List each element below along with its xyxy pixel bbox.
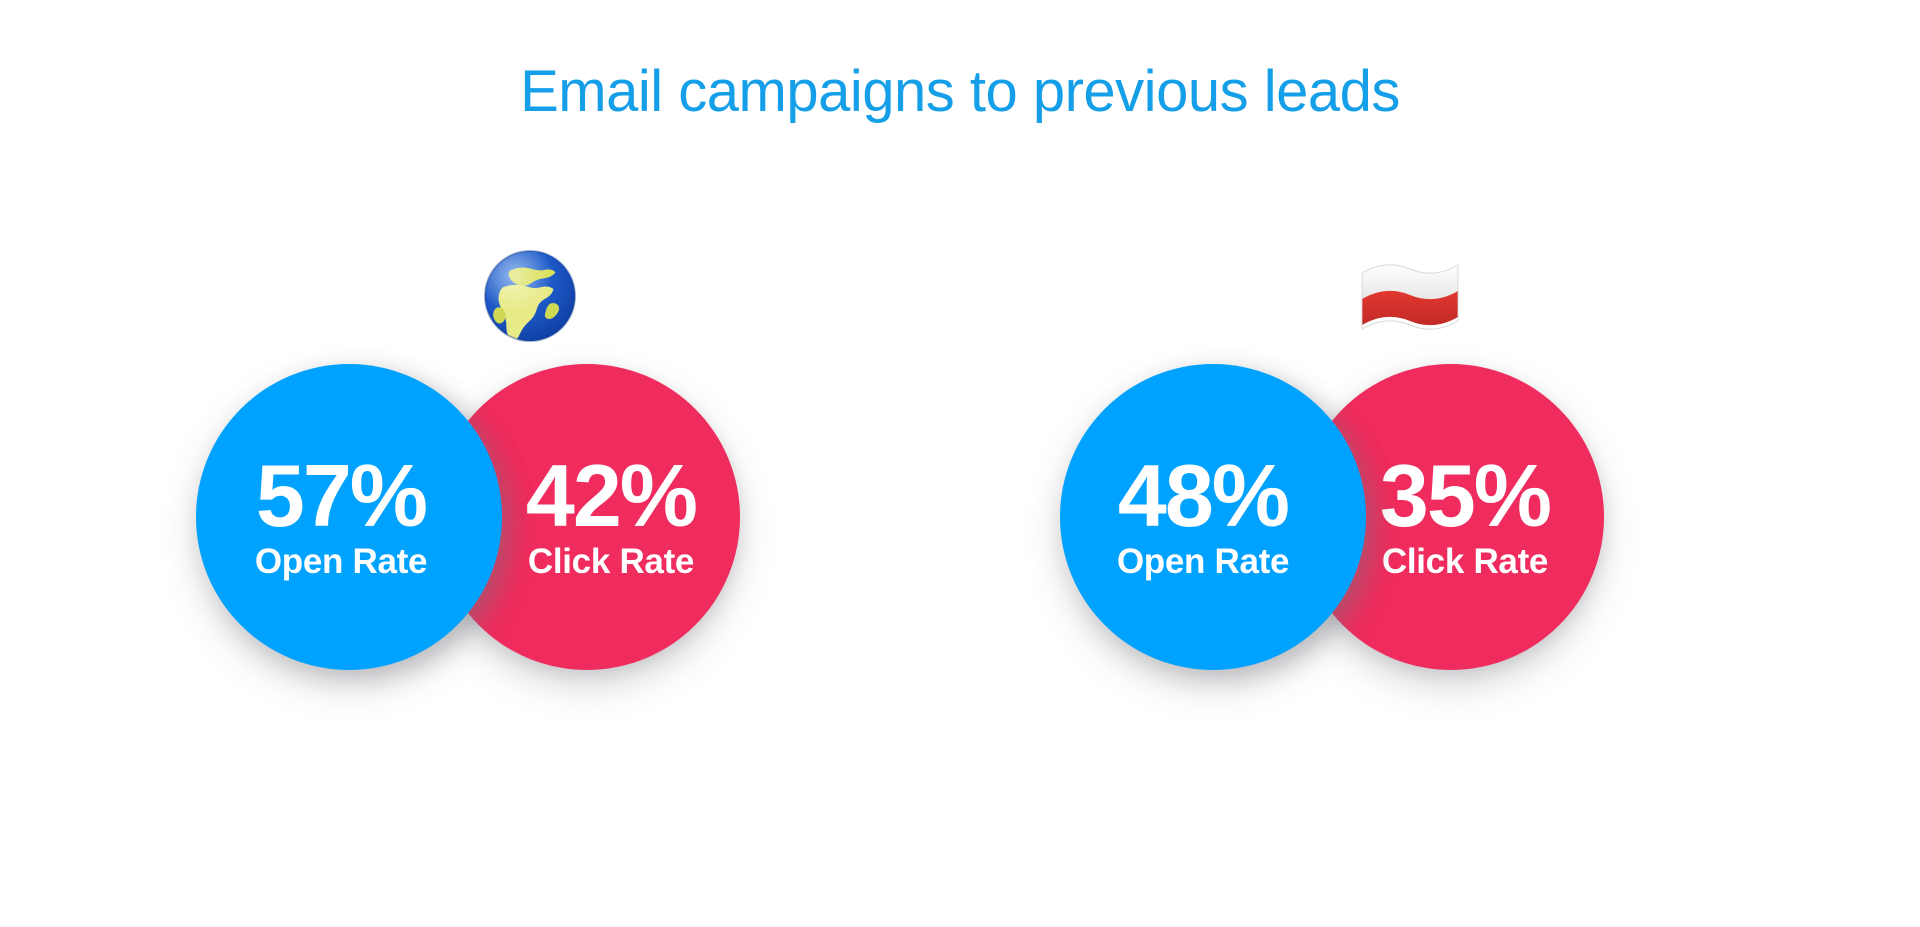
stat-label: Open Rate [1117, 543, 1289, 582]
stat-label: Open Rate [255, 543, 427, 582]
stat-circle-open-rate-poland[interactable]: 48% Open Rate [1060, 364, 1366, 670]
flag-poland-icon [1350, 236, 1470, 356]
stat-value: 48% [1117, 453, 1289, 539]
stat-pair-poland: 35% Click Rate 48% Open Rate [1060, 364, 1760, 744]
globe-europe-africa-icon [470, 236, 590, 356]
stat-pair-global: 42% Click Rate 57% Open Rate [196, 364, 896, 744]
infographic-canvas: Email campaigns to previous leads [0, 0, 1920, 927]
stat-group-global: 42% Click Rate 57% Open Rate [196, 236, 896, 796]
stat-value: 42% [526, 453, 696, 539]
stat-label: Click Rate [1380, 543, 1550, 582]
stat-groups: 42% Click Rate 57% Open Rate [0, 0, 1920, 927]
stat-circle-open-rate-global[interactable]: 57% Open Rate [196, 364, 502, 670]
stat-value: 35% [1380, 453, 1550, 539]
stat-label: Click Rate [526, 543, 696, 582]
stat-value: 57% [255, 453, 427, 539]
stat-group-poland: 35% Click Rate 48% Open Rate [1060, 236, 1760, 796]
